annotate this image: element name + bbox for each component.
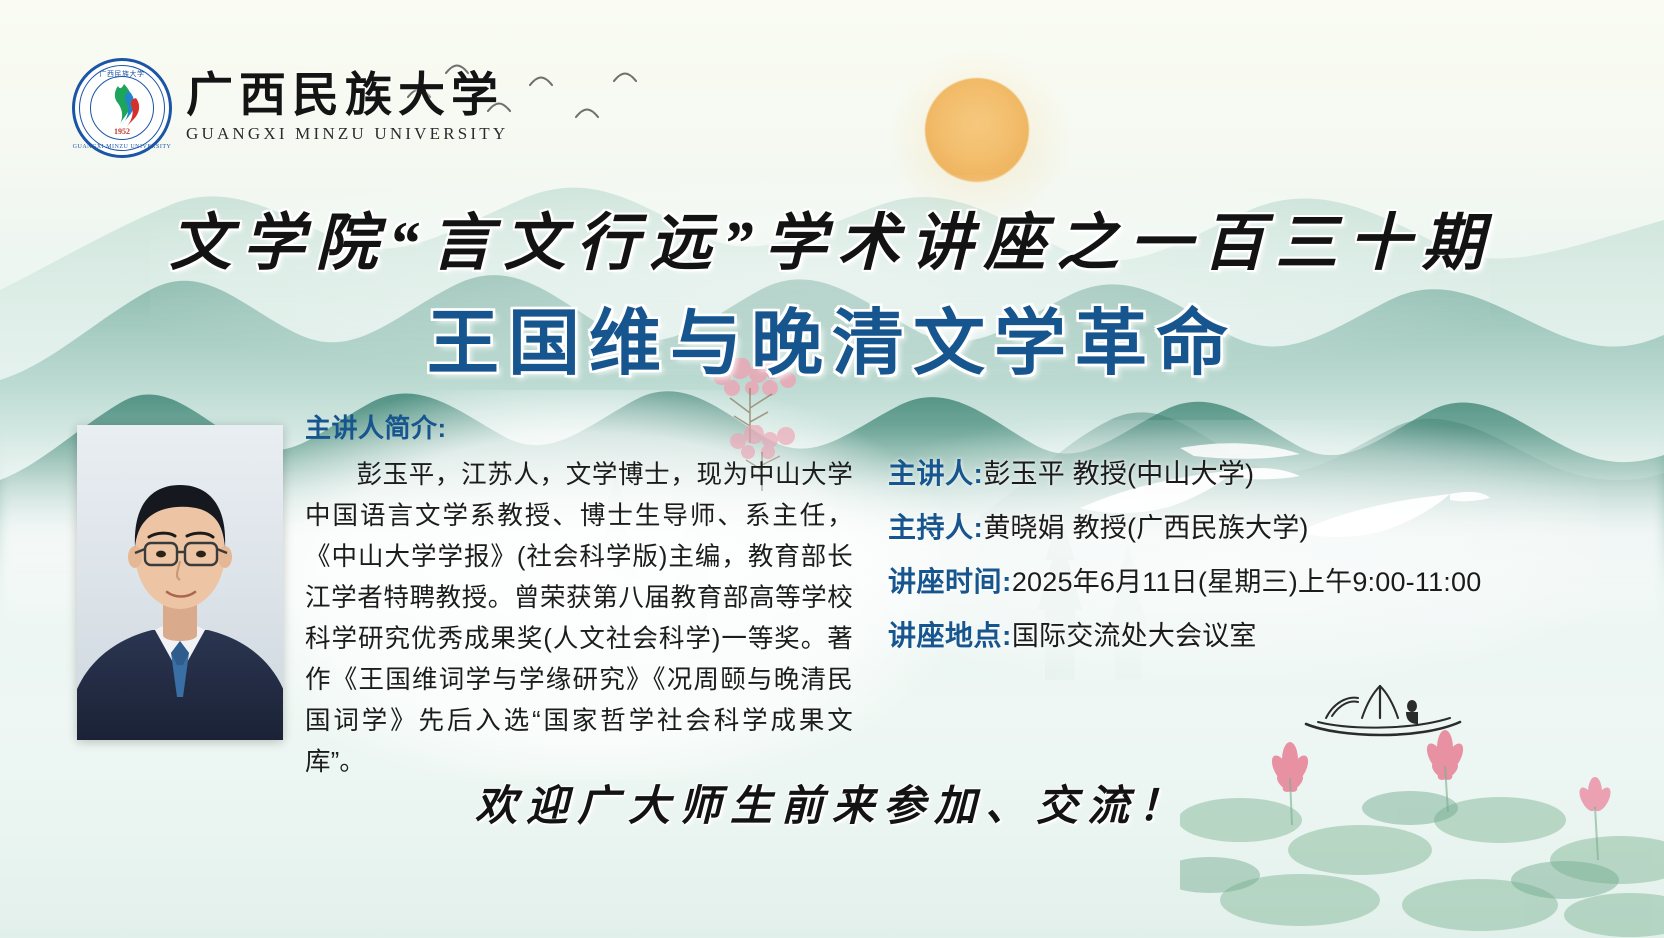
info-row-host: 主持人: 黄晓娟 教授(广西民族大学) [888,506,1588,546]
info-row-speaker: 主讲人: 彭玉平 教授(中山大学) [888,452,1588,492]
speaker-portrait-photo [77,425,283,740]
info-value-speaker: 彭玉平 教授(中山大学) [983,452,1254,491]
info-row-time: 讲座时间: 2025年6月11日(星期三)上午9:00-11:00 [888,560,1588,600]
welcome-message: 欢迎广大师生前来参加、交流！ [0,772,1664,833]
seal-top-text: 广西民族大学 [72,69,172,79]
bio-text: 彭玉平，江苏人，文学博士，现为中山大学中国语言文学系教授、博士生导师、系主任，《… [305,455,853,783]
main-title: 王国维与晚清文学革命 [0,284,1664,389]
info-row-venue: 讲座地点: 国际交流处大会议室 [888,614,1588,654]
info-label-host: 主持人: [888,506,983,546]
university-name-cn: 广西民族大学 [186,72,508,121]
bio-heading: 主讲人简介: [305,408,853,445]
speaker-bio: 主讲人简介: 彭玉平，江苏人，文学博士，现为中山大学中国语言文学系教授、博士生导… [305,408,853,783]
info-value-time: 2025年6月11日(星期三)上午9:00-11:00 [1012,560,1482,599]
flame-emblem-icon [102,82,144,126]
bio-paragraph: 彭玉平，江苏人，文学博士，现为中山大学中国语言文学系教授、博士生导师、系主任，《… [305,461,853,776]
university-wordmark: 广西民族大学 GUANGXI MINZU UNIVERSITY [186,72,508,144]
series-title: 文学院“言文行远”学术讲座之一百三十期 [0,192,1664,282]
info-label-speaker: 主讲人: [888,452,983,492]
info-value-host: 黄晓娟 教授(广西民族大学) [983,506,1308,545]
university-seal-icon: 广西民族大学 1952 GUANGXI MINZU UNIVERSITY [72,58,172,158]
info-label-venue: 讲座地点: [888,614,1012,654]
seal-year: 1952 [72,127,172,136]
seal-bottom-text: GUANGXI MINZU UNIVERSITY [72,144,172,150]
info-value-venue: 国际交流处大会议室 [1012,614,1257,653]
lecture-info: 主讲人: 彭玉平 教授(中山大学) 主持人: 黄晓娟 教授(广西民族大学) 讲座… [888,452,1588,668]
lecture-poster: 广西民族大学 1952 GUANGXI MINZU UNIVERSITY 广西民… [0,0,1664,938]
university-name-en: GUANGXI MINZU UNIVERSITY [186,124,508,144]
university-logo: 广西民族大学 1952 GUANGXI MINZU UNIVERSITY 广西民… [72,58,508,158]
info-label-time: 讲座时间: [888,560,1012,600]
